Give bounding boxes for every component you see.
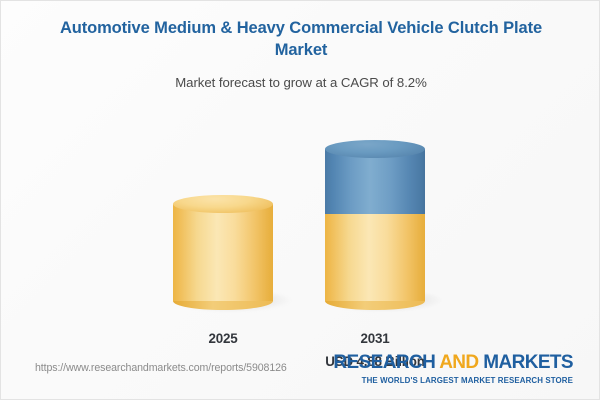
cylinder-bar-2025 [173, 204, 273, 301]
chart-subtitle: Market forecast to grow at a CAGR of 8.2… [1, 75, 600, 90]
bar-chart-plot-area: USD 3.05 Billion 2025 USD 4.88 Billion [1, 111, 600, 346]
bar-segment-base-2025 [173, 204, 273, 301]
cylinder-top-ellipse [173, 195, 273, 213]
logo-wordmark: RESEARCH AND MARKETS [333, 352, 573, 374]
cylinder-top-ellipse [325, 140, 425, 158]
research-and-markets-logo[interactable]: RESEARCH AND MARKETS THE WORLD'S LARGEST… [333, 352, 573, 385]
card-footer: https://www.researchandmarkets.com/repor… [1, 344, 600, 399]
chart-header: Automotive Medium & Heavy Commercial Veh… [1, 17, 600, 90]
source-url-link[interactable]: https://www.researchandmarkets.com/repor… [35, 362, 287, 374]
logo-tagline: THE WORLD'S LARGEST MARKET RESEARCH STOR… [333, 376, 573, 385]
cylinder-bar-2031 [325, 149, 425, 301]
logo-word-and: AND [439, 352, 478, 373]
page-title: Automotive Medium & Heavy Commercial Veh… [1, 17, 600, 62]
cylinder-body [325, 214, 425, 301]
cylinder-body [173, 204, 273, 301]
cylinder-body [325, 149, 425, 214]
bar-segment-base-2031 [325, 214, 425, 301]
logo-word-research: RESEARCH [333, 352, 435, 373]
logo-word-markets: MARKETS [483, 352, 573, 373]
bar-segment-growth-2031 [325, 149, 425, 214]
market-forecast-card: Automotive Medium & Heavy Commercial Veh… [0, 0, 600, 400]
